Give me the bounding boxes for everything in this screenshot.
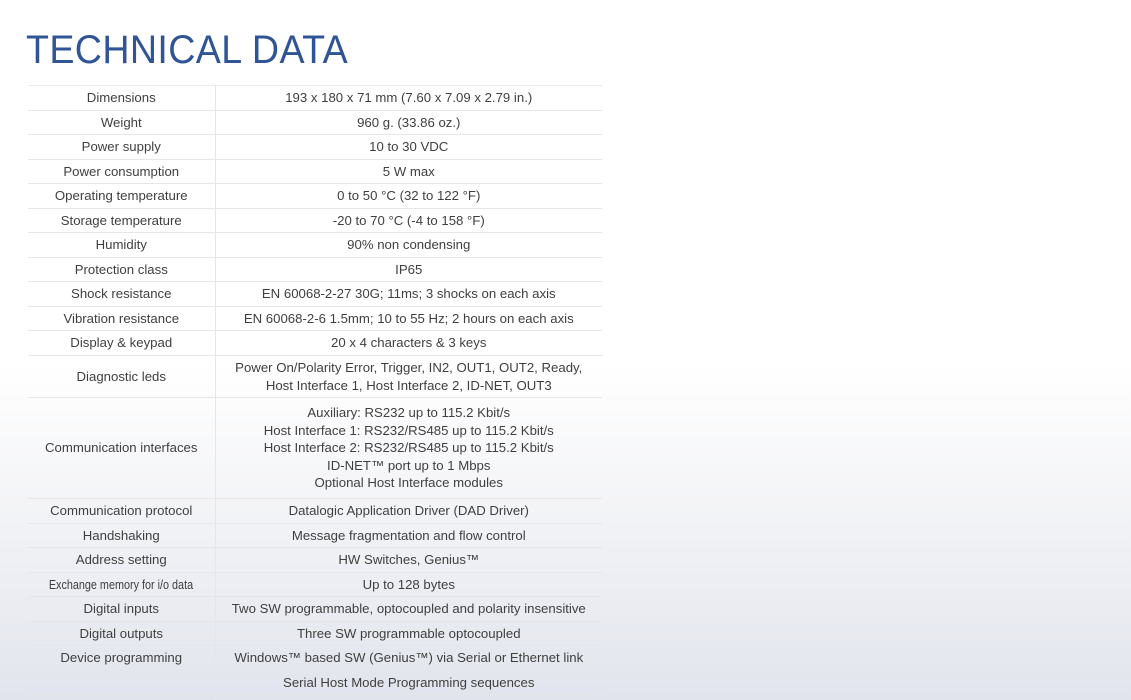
spec-label: Operating temperature [28, 184, 215, 209]
spec-value: 960 g. (33.86 oz.) [215, 110, 602, 135]
spec-label: Compatible devices [28, 695, 215, 700]
spec-label: Humidity [28, 233, 215, 258]
spec-row: Shock resistanceEN 60068-2-27 30G; 11ms;… [28, 282, 602, 307]
spec-label: Display & keypad [28, 331, 215, 356]
spec-label: Device programming [28, 646, 215, 671]
spec-label: Power consumption [28, 159, 215, 184]
spec-row: Storage temperature-20 to 70 °C (-4 to 1… [28, 208, 602, 233]
spec-row: Humidity90% non condensing [28, 233, 602, 258]
spec-row: Operating temperature0 to 50 °C (32 to 1… [28, 184, 602, 209]
spec-label: Vibration resistance [28, 306, 215, 331]
spec-row: Device programmingWindows™ based SW (Gen… [28, 646, 602, 671]
spec-row: Serial Host Mode Programming sequences [28, 670, 602, 695]
spec-label: Diagnostic leds [28, 356, 215, 398]
spec-label: Digital inputs [28, 597, 215, 622]
spec-row: Weight960 g. (33.86 oz.) [28, 110, 602, 135]
models-accessories-section: MODELS AND ACCESSORIES MODELSOrder No.De… [630, 0, 1131, 700]
spec-label: Communication interfaces [28, 398, 215, 499]
spec-value: HW Switches, Genius™ [215, 548, 602, 573]
spec-value: Two SW programmable, optocoupled and pol… [215, 597, 602, 622]
spec-row: Communication protocolDatalogic Applicat… [28, 499, 602, 524]
spec-label: Storage temperature [28, 208, 215, 233]
spec-row: Digital outputsThree SW programmable opt… [28, 621, 602, 646]
spec-label: Shock resistance [28, 282, 215, 307]
spec-label: Exchange memory for i/o data [28, 572, 215, 597]
spec-row: Communication interfacesAuxiliary: RS232… [28, 398, 602, 499]
spec-value: Serial Host Mode Programming sequences [215, 670, 602, 695]
spec-value: -20 to 70 °C (-4 to 158 °F) [215, 208, 602, 233]
spec-value: 193 x 180 x 71 mm (7.60 x 7.09 x 2.79 in… [215, 86, 602, 111]
spec-value: Datalogic Application Driver (DAD Driver… [215, 499, 602, 524]
spec-label-condensed: Exchange memory for i/o data [49, 576, 193, 594]
spec-value: Message fragmentation and flow control [215, 523, 602, 548]
technical-data-section: TECHNICAL DATA Dimensions193 x 180 x 71 … [0, 0, 630, 700]
spec-label: Digital outputs [28, 621, 215, 646]
spec-value: 90% non condensing [215, 233, 602, 258]
spec-label: Power supply [28, 135, 215, 160]
spec-row: Display & keypad20 x 4 characters & 3 ke… [28, 331, 602, 356]
spec-value: 10 to 30 VDC [215, 135, 602, 160]
spec-value: 0 to 50 °C (32 to 122 °F) [215, 184, 602, 209]
spec-row: Power consumption5 W max [28, 159, 602, 184]
technical-data-title: TECHNICAL DATA [26, 30, 348, 70]
spec-row: Compatible devicesDS2100N, DS2400N, DS48… [28, 695, 602, 700]
technical-data-table-wrapper: Dimensions193 x 180 x 71 mm (7.60 x 7.09… [28, 85, 602, 700]
spec-value: EN 60068-2-6 1.5mm; 10 to 55 Hz; 2 hours… [215, 306, 602, 331]
spec-value: Auxiliary: RS232 up to 115.2 Kbit/s Host… [215, 398, 602, 499]
spec-label: Dimensions [28, 86, 215, 111]
spec-value: 20 x 4 characters & 3 keys [215, 331, 602, 356]
spec-label: Handshaking [28, 523, 215, 548]
spec-row: Digital inputsTwo SW programmable, optoc… [28, 597, 602, 622]
spec-value: DS2100N, DS2400N, DS4800, MATRIX 200™,MA… [215, 695, 602, 700]
spec-label: Weight [28, 110, 215, 135]
technical-data-table: Dimensions193 x 180 x 71 mm (7.60 x 7.09… [28, 85, 602, 700]
spec-value: IP65 [215, 257, 602, 282]
spec-row: Dimensions193 x 180 x 71 mm (7.60 x 7.09… [28, 86, 602, 111]
spec-value: Three SW programmable optocoupled [215, 621, 602, 646]
spec-value: Power On/Polarity Error, Trigger, IN2, O… [215, 356, 602, 398]
spec-row: HandshakingMessage fragmentation and flo… [28, 523, 602, 548]
spec-row: Exchange memory for i/o dataUp to 128 by… [28, 572, 602, 597]
spec-label [28, 670, 215, 695]
spec-row: Vibration resistanceEN 60068-2-6 1.5mm; … [28, 306, 602, 331]
spec-row: Address settingHW Switches, Genius™ [28, 548, 602, 573]
spec-value: 5 W max [215, 159, 602, 184]
spec-value: Windows™ based SW (Genius™) via Serial o… [215, 646, 602, 671]
spec-value: Up to 128 bytes [215, 572, 602, 597]
spec-value: EN 60068-2-27 30G; 11ms; 3 shocks on eac… [215, 282, 602, 307]
spec-label: Communication protocol [28, 499, 215, 524]
spec-row: Diagnostic ledsPower On/Polarity Error, … [28, 356, 602, 398]
datasheet-page: TECHNICAL DATA Dimensions193 x 180 x 71 … [0, 0, 1131, 700]
spec-label: Protection class [28, 257, 215, 282]
spec-row: Power supply10 to 30 VDC [28, 135, 602, 160]
spec-row: Protection classIP65 [28, 257, 602, 282]
spec-label: Address setting [28, 548, 215, 573]
